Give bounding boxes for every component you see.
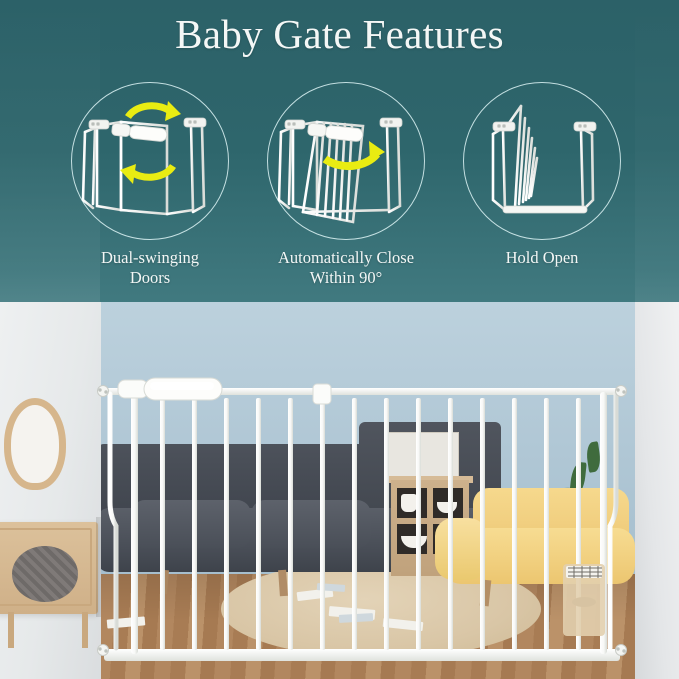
grey-sofa-leg	[278, 570, 288, 596]
grey-sofa-cushion	[251, 500, 371, 548]
feature-hold-open: Hold Open	[444, 82, 640, 297]
wall-art-panel	[387, 432, 459, 480]
gate-auto-close-icon	[267, 82, 425, 240]
arched-mirror	[4, 398, 66, 490]
feature-automatically-close: Automatically Close Within 90°	[248, 82, 444, 297]
feature-row: Dual-swinging Doors	[0, 82, 679, 297]
feature-caption-line2: Doors	[130, 268, 170, 287]
feature-caption-line1: Automatically Close	[278, 248, 414, 267]
right-wall	[635, 302, 679, 679]
feature-caption: Automatically Close Within 90°	[248, 248, 444, 287]
sideboard-woven-panel	[12, 546, 78, 602]
grey-sofa-cushion	[131, 500, 251, 548]
product-feature-graphic: Baby Gate Features	[0, 0, 679, 679]
wooden-sideboard	[0, 522, 98, 614]
sideboard-leg	[82, 612, 88, 648]
feature-caption: Hold Open	[444, 248, 640, 268]
feature-caption: Dual-swinging Doors	[52, 248, 248, 287]
gate-dual-swing-icon	[71, 82, 229, 240]
page-title: Baby Gate Features	[0, 9, 679, 59]
sideboard-leg	[8, 612, 14, 648]
feature-dual-swinging-doors: Dual-swinging Doors	[52, 82, 248, 297]
feature-caption-line1: Dual-swinging	[101, 248, 199, 267]
feature-caption-line1: Hold Open	[506, 248, 579, 267]
yellow-sofa-armrest	[435, 518, 487, 580]
product-lifestyle-photo	[0, 302, 679, 679]
left-wall	[0, 302, 101, 679]
feature-caption-line2: Within 90°	[310, 268, 382, 287]
shelf-vase	[401, 494, 417, 512]
room-scene	[101, 302, 635, 679]
gate-hold-open-icon	[463, 82, 621, 240]
